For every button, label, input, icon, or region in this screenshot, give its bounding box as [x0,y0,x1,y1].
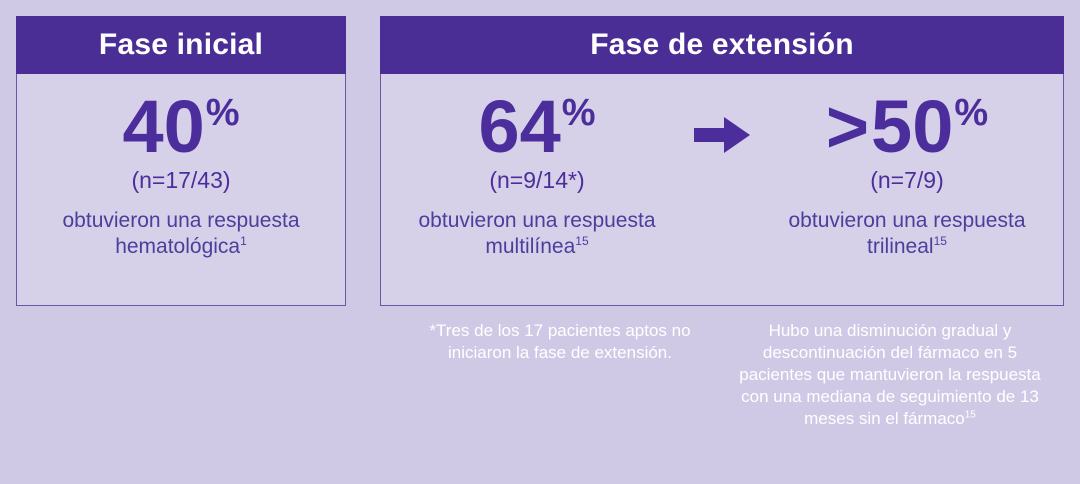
card-header-fase-inicial: Fase inicial [16,16,346,74]
stat-caption-text-hematologica: obtuvieron una respuesta hematológica [63,209,300,258]
card-header-fase-de-extension: Fase de extensión [380,16,1064,74]
percent-sign-hematologica: % [206,94,240,132]
percent-sign-multilinea: % [562,94,596,132]
footnote-trilineal-text: Hubo una disminución gradual y descontin… [739,321,1040,428]
footnote-multilinea-text: *Tres de los 17 pacientes aptos no inici… [429,321,690,362]
stat-row-fase-inicial: 40 % (n=17/43) obtuvieron una respuesta … [17,74,345,304]
arrow-right-icon [694,114,750,156]
stat-caption-text-trilineal: obtuvieron una respuesta trilineal [789,209,1026,258]
stat-caption-text-multilinea: obtuvieron una respuesta multilínea [419,209,656,258]
stat-figure-hematologica: 40 % [122,92,239,162]
card-fase-inicial: Fase inicial 40 % (n=17/43) obtuvieron u… [16,16,346,306]
card-body-fase-inicial: 40 % (n=17/43) obtuvieron una respuesta … [17,74,345,304]
footnote-trilineal-superscript: 15 [965,410,976,421]
stat-caption-superscript-trilineal: 15 [934,234,947,248]
stat-figure-multilinea: 64 % [478,92,595,162]
stat-respuesta-hematologica: 40 % (n=17/43) obtuvieron una respuesta … [17,74,345,260]
card-fase-de-extension: Fase de extensión 64 % (n=9/14*) obtuvie… [380,16,1064,306]
arrow-right-container [687,74,757,156]
stat-respuesta-trilineal: > 50 % (n=7/9) obtuvieron una respuesta … [757,74,1057,260]
stat-prefix-trilineal: > [826,92,869,162]
stat-n-hematologica: (n=17/43) [131,168,230,193]
stat-number-trilineal: 50 [871,92,953,162]
stat-caption-multilinea: obtuvieron una respuesta multilínea15 [387,208,687,261]
stat-caption-superscript-hematologica: 1 [240,234,247,248]
stat-n-multilinea: (n=9/14*) [489,168,584,193]
infographic-root: Fase inicial 40 % (n=17/43) obtuvieron u… [0,0,1080,484]
percent-sign-trilineal: % [954,94,988,132]
stat-respuesta-multilinea: 64 % (n=9/14*) obtuvieron una respuesta … [387,74,687,260]
card-title-fase-de-extension: Fase de extensión [590,30,854,60]
stat-n-trilineal: (n=7/9) [870,168,944,193]
stat-figure-trilineal: > 50 % [826,92,988,162]
stat-number-multilinea: 64 [478,92,560,162]
footnote-trilineal: Hubo una disminución gradual y descontin… [730,320,1050,430]
footnote-multilinea: *Tres de los 17 pacientes aptos no inici… [400,320,720,364]
stat-caption-trilineal: obtuvieron una respuesta trilineal15 [757,208,1057,261]
card-body-fase-de-extension: 64 % (n=9/14*) obtuvieron una respuesta … [381,74,1063,304]
stat-row-fase-de-extension: 64 % (n=9/14*) obtuvieron una respuesta … [381,74,1063,304]
card-title-fase-inicial: Fase inicial [99,30,263,60]
stat-caption-hematologica: obtuvieron una respuesta hematológica1 [17,208,345,261]
stat-number-hematologica: 40 [122,92,204,162]
stat-caption-superscript-multilinea: 15 [575,234,588,248]
